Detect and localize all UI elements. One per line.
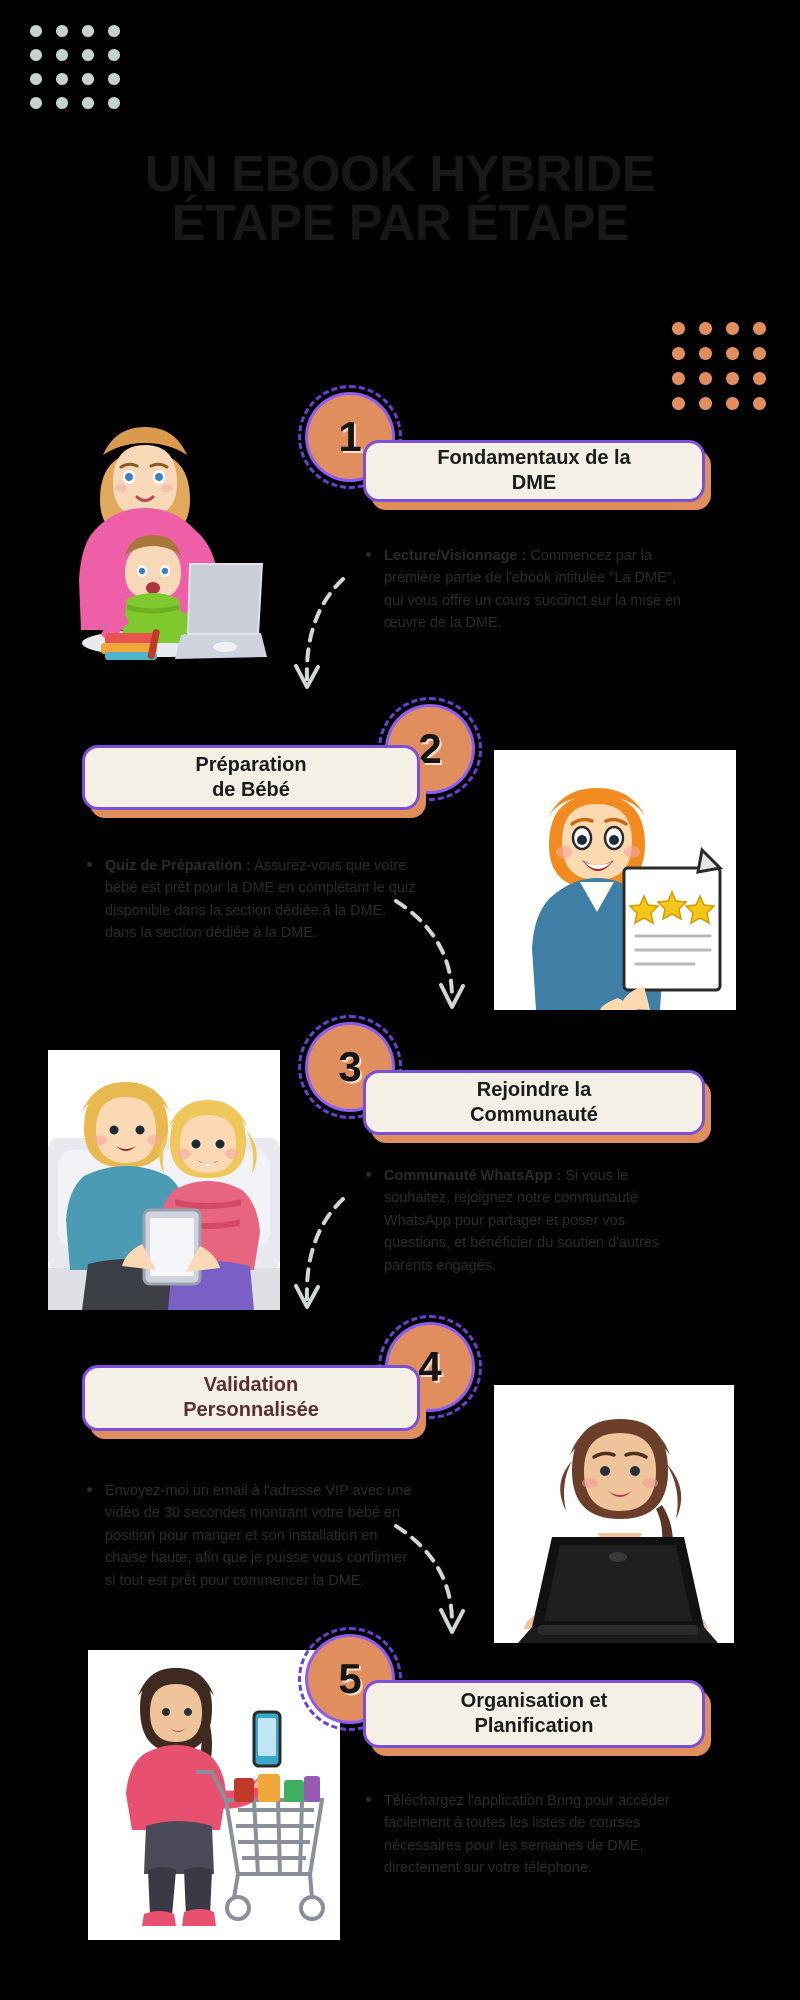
dot: [30, 49, 42, 61]
dot: [108, 97, 120, 109]
dot: [672, 322, 685, 335]
dot: [699, 397, 712, 410]
step-3-body: Communauté WhatsApp : Si vous le souhait…: [364, 1165, 694, 1277]
step-5-title: Organisation et Planification: [461, 1689, 608, 1739]
arrow-step-4-to-5: [390, 1520, 480, 1650]
step-3-title: Rejoindre la Communauté: [470, 1078, 598, 1128]
dot: [108, 25, 120, 37]
bullet-icon: [366, 1172, 371, 1177]
dot: [726, 347, 739, 360]
dot: [672, 372, 685, 385]
step-2-body-lead: Quiz de Préparation :: [105, 858, 251, 874]
dot: [753, 397, 766, 410]
bullet-icon: [87, 1487, 92, 1492]
dot: [108, 49, 120, 61]
bullet-icon: [366, 1797, 371, 1802]
dot: [726, 322, 739, 335]
dot: [82, 97, 94, 109]
dot: [82, 25, 94, 37]
bullet-icon: [87, 862, 92, 867]
dot: [753, 347, 766, 360]
arrow-step-1-to-2: [285, 575, 355, 705]
step-3-illustration: [48, 1050, 280, 1310]
step-4-title: Validation Personnalisée: [183, 1373, 319, 1423]
step-1-title: Fondamentaux de la DME: [437, 446, 630, 496]
step-1-body: Lecture/Visionnage : Commencez par la pr…: [364, 545, 694, 635]
dot: [30, 97, 42, 109]
dot: [108, 73, 120, 85]
step-3-body-lead: Communauté WhatsApp :: [384, 1168, 561, 1184]
step-4-body: Envoyez-moi un email à l'adresse VIP ave…: [85, 1480, 417, 1592]
dot: [56, 25, 68, 37]
dot: [753, 372, 766, 385]
step-4-body-rest: Envoyez-moi un email à l'adresse VIP ave…: [105, 1483, 411, 1589]
step-1-body-lead: Lecture/Visionnage :: [384, 548, 526, 564]
dot-grid-orange-icon: [672, 322, 764, 404]
step-2-illustration: [494, 750, 736, 1010]
dot-grid-light-icon: [30, 25, 120, 105]
dot: [699, 347, 712, 360]
step-5-body: Téléchargez l'application Bring pour acc…: [364, 1790, 694, 1880]
step-3-card: Rejoindre la Communauté: [363, 1070, 705, 1135]
step-5-body-rest: Téléchargez l'application Bring pour acc…: [384, 1793, 670, 1876]
step-1-illustration: [55, 385, 270, 660]
bullet-icon: [366, 552, 371, 557]
step-5-card: Organisation et Planification: [363, 1680, 705, 1748]
dot: [56, 73, 68, 85]
dot: [82, 73, 94, 85]
page-title-line-2: ÉTAPE PAR ÉTAPE: [0, 199, 800, 248]
dot: [672, 397, 685, 410]
dot: [30, 73, 42, 85]
dot: [699, 322, 712, 335]
step-1-card: Fondamentaux de la DME: [363, 440, 705, 502]
dot: [672, 347, 685, 360]
step-2-card: Préparation de Bébé: [82, 745, 420, 810]
dot: [726, 397, 739, 410]
dot: [753, 322, 766, 335]
dot: [82, 49, 94, 61]
infographic-page: UN EBOOK HYBRIDE ÉTAPE PAR ÉTAPE: [0, 0, 800, 2000]
page-title: UN EBOOK HYBRIDE ÉTAPE PAR ÉTAPE: [0, 150, 800, 248]
dot: [699, 372, 712, 385]
dot: [56, 97, 68, 109]
arrow-step-3-to-4: [285, 1195, 355, 1325]
step-2-title: Préparation de Bébé: [195, 753, 306, 803]
dot: [56, 49, 68, 61]
dot: [726, 372, 739, 385]
step-4-card: Validation Personnalisée: [82, 1365, 420, 1431]
step-2-body: Quiz de Préparation : Assurez-vous que v…: [85, 855, 420, 945]
dot: [30, 25, 42, 37]
step-4-illustration: [494, 1385, 734, 1643]
arrow-step-2-to-3: [390, 895, 480, 1025]
